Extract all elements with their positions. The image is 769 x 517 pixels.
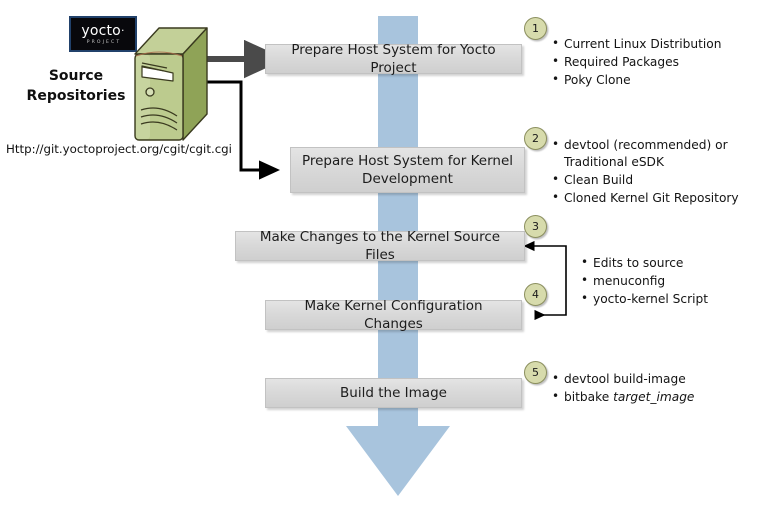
note-item: Poky Clone xyxy=(551,72,721,89)
note-item: Current Linux Distribution xyxy=(551,36,721,53)
notes-steps-3-and-4: Edits to source menuconfig yocto-kernel … xyxy=(580,255,708,309)
process-box-build-the-image[interactable]: Build the Image xyxy=(265,378,522,408)
source-repositories-label-line2: Repositories xyxy=(16,86,136,106)
notes-step-2: devtool (recommended) or Traditional eSD… xyxy=(551,137,751,208)
notes-step-5: devtool build-image bitbake target_image xyxy=(551,371,694,407)
yocto-logo-subtitle: PROJECT xyxy=(87,39,122,46)
source-repository-server-icon xyxy=(133,26,209,142)
yocto-logo-dot: · xyxy=(121,24,125,37)
source-repositories-label-line1: Source xyxy=(16,66,136,86)
diagram-canvas: yocto· PROJECT Source Repositories Http:… xyxy=(0,0,769,517)
source-repositories-url: Http://git.yoctoproject.org/cgit/cgit.cg… xyxy=(6,142,232,156)
note-item: bitbake target_image xyxy=(551,389,694,406)
source-repositories-label: Source Repositories xyxy=(16,66,136,106)
yocto-logo-wordmark: yocto xyxy=(81,23,121,39)
yocto-project-logo: yocto· PROJECT xyxy=(69,16,137,52)
step-badge-3: 3 xyxy=(524,215,547,238)
process-box-prepare-host-yocto[interactable]: Prepare Host System for Yocto Project xyxy=(265,44,522,74)
note-item: Cloned Kernel Git Repository xyxy=(551,190,751,207)
note-item: Edits to source xyxy=(580,255,708,272)
step-badge-5: 5 xyxy=(524,361,547,384)
note-item: devtool (recommended) or Traditional eSD… xyxy=(551,137,751,171)
note-item-text: bitbake xyxy=(564,390,613,404)
note-item: devtool build-image xyxy=(551,371,694,388)
note-item: Clean Build xyxy=(551,172,751,189)
note-item-emphasis: target_image xyxy=(613,390,694,404)
step-badge-1: 1 xyxy=(524,17,547,40)
step-badge-4: 4 xyxy=(524,283,547,306)
note-item: menuconfig xyxy=(580,273,708,290)
note-item: Required Packages xyxy=(551,54,721,71)
note-item: yocto-kernel Script xyxy=(580,291,708,308)
connector-server-to-step2 xyxy=(207,82,262,170)
process-box-prepare-host-kernel[interactable]: Prepare Host System for Kernel Developme… xyxy=(290,147,525,193)
yocto-logo-word: yocto· xyxy=(81,24,124,38)
step-badge-2: 2 xyxy=(524,127,547,150)
notes-step-1: Current Linux Distribution Required Pack… xyxy=(551,36,721,90)
process-box-make-kernel-source-changes[interactable]: Make Changes to the Kernel Source Files xyxy=(235,231,525,261)
process-box-make-kernel-config-changes[interactable]: Make Kernel Configuration Changes xyxy=(265,300,522,330)
